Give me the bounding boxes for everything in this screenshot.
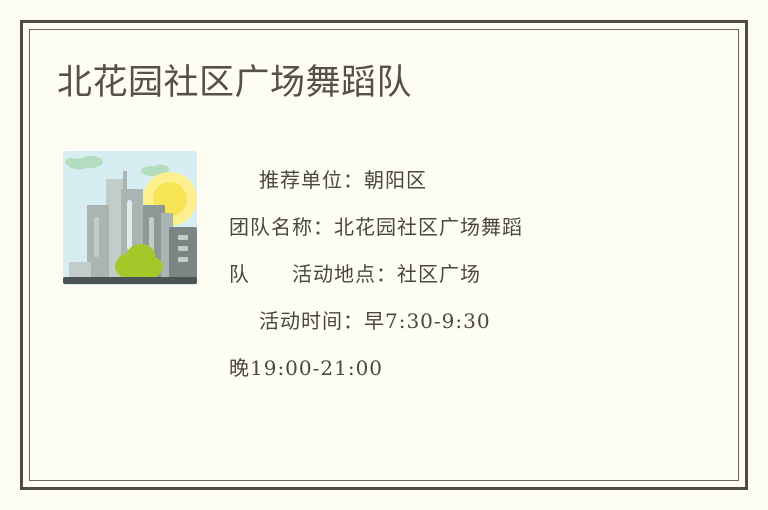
building-low-block (69, 262, 91, 279)
city-skyline-svg (57, 147, 209, 299)
detail-line-location: 队 活动地点：社区广场 (229, 251, 649, 298)
page-title: 北花园社区广场舞蹈队 (57, 62, 412, 104)
window-box (178, 257, 188, 262)
window-box (178, 246, 188, 251)
detail-line-time-morning: 活动时间：早7:30-9:30 (229, 298, 649, 345)
city-skyline-illustration (57, 147, 209, 299)
poster-page: 北花园社区广场舞蹈队 (0, 0, 768, 510)
details-block: 推荐单位：朝阳区 团队名称：北花园社区广场舞蹈 队 活动地点：社区广场 活动时间… (229, 157, 649, 392)
poster-content: 北花园社区广场舞蹈队 (29, 29, 739, 481)
window-strip (94, 217, 99, 257)
window-box (178, 235, 188, 240)
building-right-dark (169, 227, 197, 279)
detail-line-recommending-unit: 推荐单位：朝阳区 (229, 157, 649, 204)
window-strip (127, 200, 132, 250)
ground-bar (63, 277, 197, 284)
detail-line-time-evening: 晚19:00-21:00 (229, 345, 649, 392)
antenna (123, 171, 127, 189)
detail-line-team-name: 团队名称：北花园社区广场舞蹈 (229, 204, 649, 251)
